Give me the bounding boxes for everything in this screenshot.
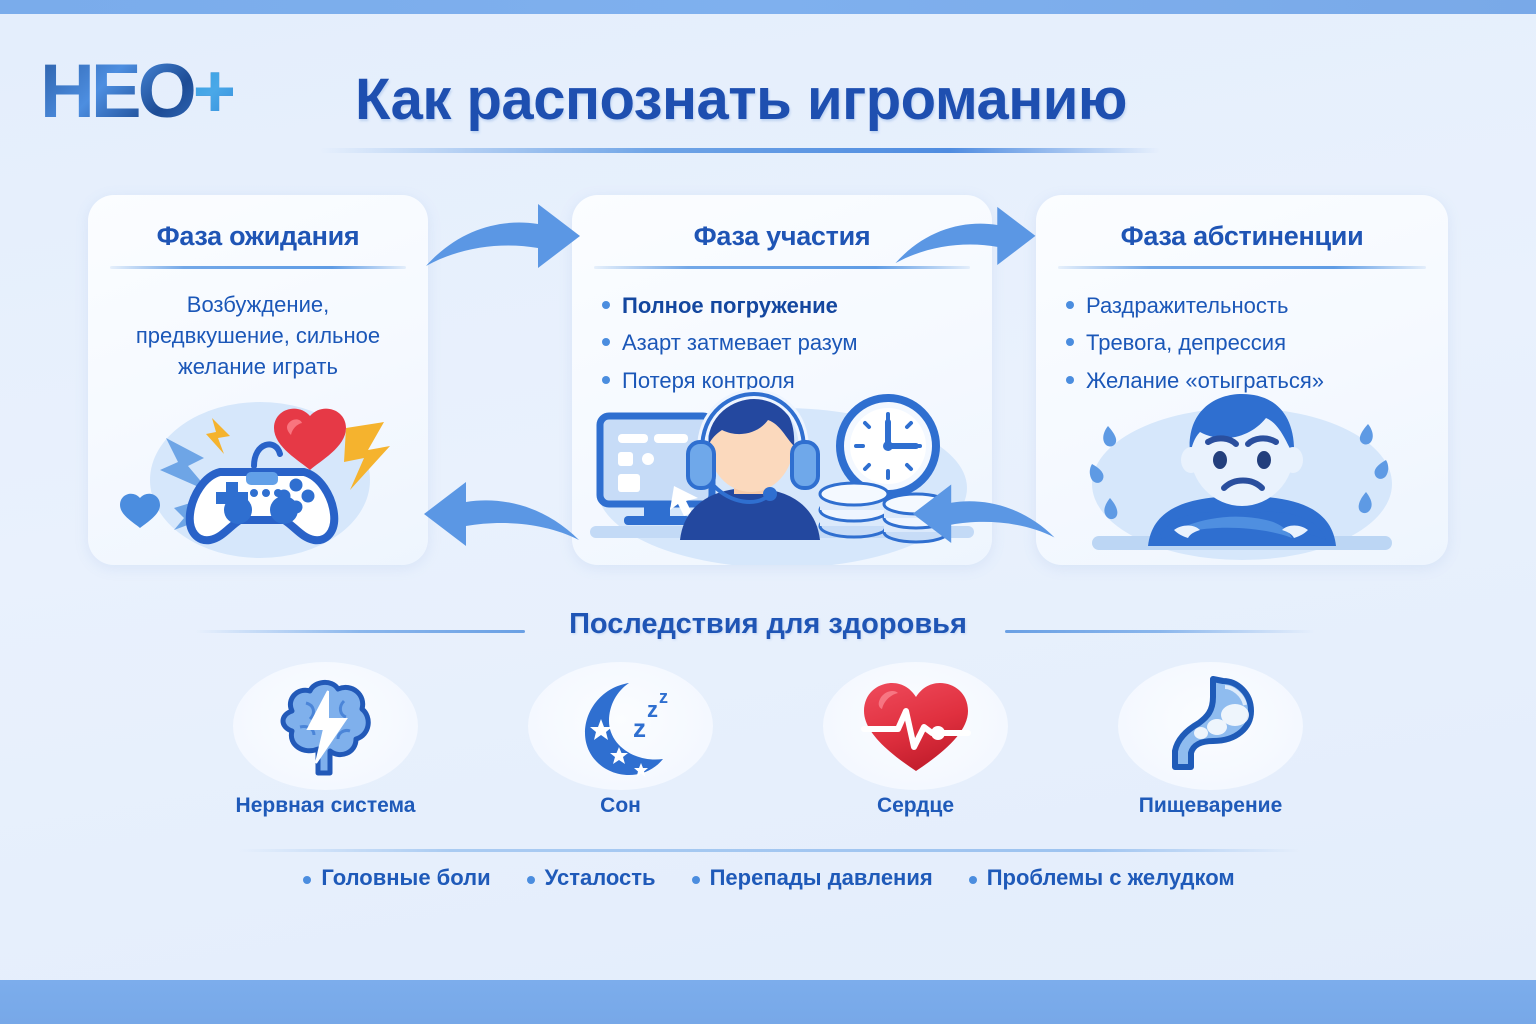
symptom-item: Перепады давления [690, 865, 933, 891]
brain-lightning-icon [233, 662, 418, 790]
svg-text:z: z [647, 697, 658, 722]
card-body: Полное погружение Азарт затмевает разум … [572, 269, 992, 397]
consequence-label: Нервная система [218, 794, 433, 818]
page-title: Как распознать игроманию [355, 66, 1127, 133]
phase-card-anticipation[interactable]: Фаза ожидания Возбуждение, предвкушение,… [88, 195, 428, 565]
card-body: Раздражительность Тревога, депрессия Жел… [1036, 269, 1448, 397]
consequence-item-sleep[interactable]: z z z Сон [513, 662, 728, 832]
list-item: Тревога, депрессия [1060, 326, 1424, 359]
list-item: Раздражительность [1060, 289, 1424, 322]
heart-pulse-icon [823, 662, 1008, 790]
consequence-item-digestion[interactable]: Пищеварение [1103, 662, 1318, 832]
consequence-label: Пищеварение [1103, 794, 1318, 818]
symptoms-row: Головные боли Усталость Перепады давлени… [0, 865, 1536, 891]
phase-card-paragraph: Возбуждение, предвкушение, сильное желан… [112, 289, 404, 383]
consequences-icons-row: Нервная система z z z Сон [218, 662, 1318, 832]
top-accent-bar [0, 0, 1536, 14]
symptom-item: Усталость [525, 865, 656, 891]
phase-card-title: Фаза ожидания [88, 195, 428, 252]
consequences-heading: Последствия для здоровья [0, 608, 1536, 641]
svg-text:z: z [659, 687, 668, 707]
arrow-right-icon [890, 196, 1040, 279]
card-body: Возбуждение, предвкушение, сильное желан… [88, 269, 428, 383]
gamepad-hearts-icon [88, 380, 428, 565]
stomach-icon [1118, 662, 1303, 790]
consequence-label: Сон [513, 794, 728, 818]
bottom-accent-bar [0, 980, 1536, 1024]
phase-cards: Фаза ожидания Возбуждение, предвкушение,… [0, 195, 1536, 570]
list-item: Полное погружение [596, 289, 968, 322]
consequence-item-nervous-system[interactable]: Нервная система [218, 662, 433, 832]
sad-person-icon [1036, 380, 1448, 565]
consequence-label: Сердце [808, 794, 1023, 818]
brand-name: НЕО [40, 49, 193, 134]
arrow-right-icon [420, 196, 585, 279]
list-item: Азарт затмевает разум [596, 326, 968, 359]
arrow-left-icon [900, 472, 1060, 555]
title-underline [320, 148, 1160, 153]
phase-card-title: Фаза абстиненции [1036, 195, 1448, 252]
symptom-item: Проблемы с желудком [967, 865, 1235, 891]
consequences-header: Последствия для здоровья [0, 608, 1536, 652]
brand-plus: + [193, 49, 233, 134]
symptom-item: Головные боли [301, 865, 490, 891]
symptoms-divider [238, 849, 1301, 852]
brand-logo: НЕО+ [40, 54, 233, 130]
consequence-item-heart[interactable]: Сердце [808, 662, 1023, 832]
moon-zzz-icon: z z z [528, 662, 713, 790]
poster-header: НЕО+ Как распознать игроманию [0, 20, 1536, 140]
svg-text:z: z [633, 713, 646, 743]
phase-card-withdrawal[interactable]: Фаза абстиненции Раздражительность Трево… [1036, 195, 1448, 565]
arrow-left-icon [410, 472, 585, 555]
